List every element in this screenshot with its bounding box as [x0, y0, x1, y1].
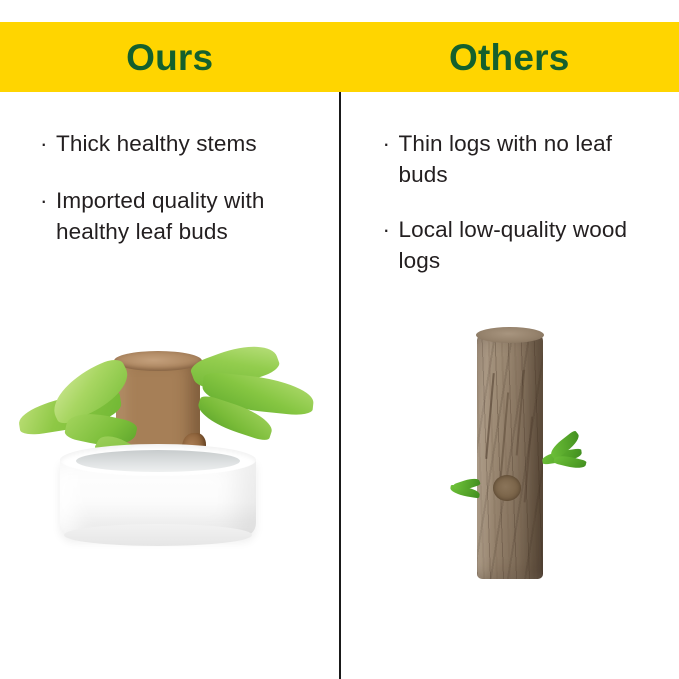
thick-log-cut-top: [114, 351, 202, 371]
bullet-dot-icon: ·: [40, 185, 48, 216]
product-photo-others: [340, 319, 679, 679]
comparison-columns: · Thick healthy stems · Imported quality…: [0, 92, 679, 679]
column-ours: · Thick healthy stems · Imported quality…: [0, 92, 340, 679]
header-band: Ours Others: [0, 22, 679, 92]
list-item: · Thick healthy stems: [40, 128, 320, 159]
sprout-icon: [450, 479, 484, 501]
bullet-text: Local low-quality wood logs: [399, 217, 628, 273]
column-others: · Thin logs with no leaf buds · Local lo…: [340, 92, 679, 679]
list-item: · Imported quality with healthy leaf bud…: [40, 185, 320, 247]
column-title-ours: Ours: [126, 39, 213, 76]
bullet-dot-icon: ·: [383, 128, 391, 159]
header-cell-ours: Ours: [0, 22, 340, 92]
pot-inner-rim: [76, 450, 240, 472]
bullet-text: Thin logs with no leaf buds: [399, 131, 613, 187]
header-cell-others: Others: [340, 22, 679, 92]
column-title-others: Others: [449, 39, 569, 76]
bullet-list-others: · Thin logs with no leaf buds · Local lo…: [340, 128, 679, 300]
thin-log: [477, 333, 543, 579]
bullet-list-ours: · Thick healthy stems · Imported quality…: [0, 128, 340, 273]
comparison-infographic: Ours Others · Thick healthy stems · Impo…: [0, 0, 679, 679]
white-ceramic-pot: [60, 459, 256, 537]
sprout-icon: [538, 437, 596, 471]
bullet-dot-icon: ·: [383, 214, 391, 245]
thin-log-illustration: [340, 319, 679, 679]
product-photo-ours: [0, 319, 340, 679]
bullet-text: Imported quality with healthy leaf buds: [56, 188, 264, 244]
bullet-text: Thick healthy stems: [56, 131, 257, 156]
list-item: · Local low-quality wood logs: [383, 214, 650, 276]
bamboo-in-pot-illustration: [0, 319, 340, 679]
bullet-dot-icon: ·: [40, 128, 48, 159]
thin-log-cut-top: [476, 327, 544, 343]
list-item: · Thin logs with no leaf buds: [383, 128, 650, 190]
